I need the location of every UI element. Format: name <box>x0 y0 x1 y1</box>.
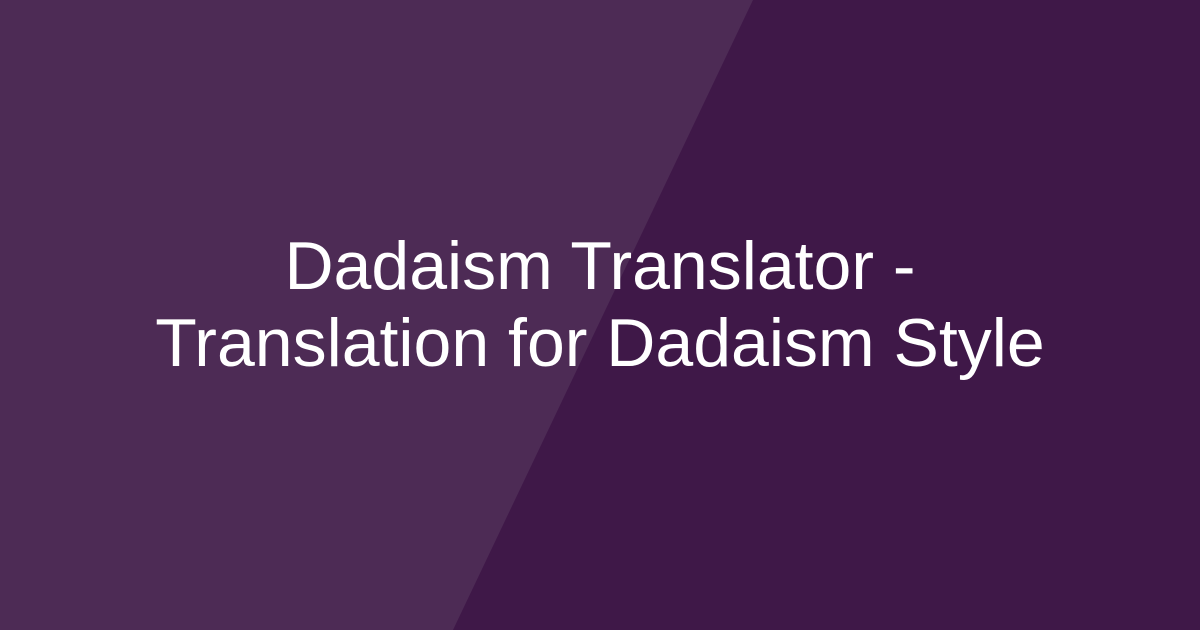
share-card: Dadaism Translator - Translation for Dad… <box>0 0 1200 630</box>
card-content: Dadaism Translator - Translation for Dad… <box>0 0 1200 630</box>
page-title: Dadaism Translator - Translation for Dad… <box>120 228 1080 382</box>
